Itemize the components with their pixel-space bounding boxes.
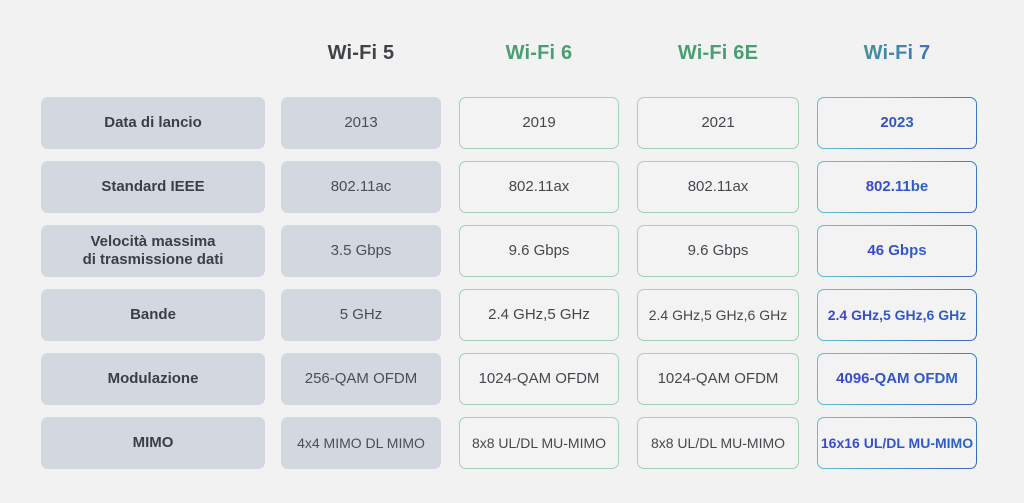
grid-gap — [265, 161, 281, 213]
cell-wifi7-text: 2.4 GHz,5 GHz,6 GHz — [828, 307, 966, 324]
cell-wifi7: 2023 — [817, 97, 977, 149]
cell-wifi5: 5 GHz — [281, 289, 441, 341]
column-header-wifi5: Wi-Fi 5 — [281, 33, 441, 73]
comparison-grid: Wi-Fi 5 Wi-Fi 6 Wi-Fi 6E Wi-Fi 7 Data di… — [41, 33, 977, 469]
grid-gap — [441, 417, 459, 469]
grid-gap — [441, 353, 459, 405]
cell-wifi7: 2.4 GHz,5 GHz,6 GHz — [817, 289, 977, 341]
row-label-text: Standard IEEE — [101, 178, 204, 196]
grid-gap — [799, 225, 817, 277]
grid-gap — [265, 33, 281, 85]
row-label: MIMO — [41, 417, 265, 469]
wifi-comparison-table: Wi-Fi 5 Wi-Fi 6 Wi-Fi 6E Wi-Fi 7 Data di… — [0, 0, 1024, 503]
column-header-wifi6e: Wi-Fi 6E — [637, 33, 799, 73]
row-label: Bande — [41, 289, 265, 341]
grid-gap — [265, 225, 281, 277]
grid-gap — [265, 353, 281, 405]
grid-gap — [619, 97, 637, 149]
grid-gap — [441, 289, 459, 341]
cell-wifi7: 46 Gbps — [817, 225, 977, 277]
grid-gap — [619, 353, 637, 405]
grid-gap — [799, 97, 817, 149]
cell-wifi7-text: 4096-QAM OFDM — [836, 370, 958, 388]
cell-wifi6e: 2.4 GHz,5 GHz,6 GHz — [637, 289, 799, 341]
grid-gap — [441, 225, 459, 277]
cell-wifi7-text: 46 Gbps — [867, 242, 926, 260]
cell-wifi6e: 9.6 Gbps — [637, 225, 799, 277]
cell-wifi6e: 2021 — [637, 97, 799, 149]
row-label: Modulazione — [41, 353, 265, 405]
grid-gap — [441, 97, 459, 149]
cell-wifi5: 3.5 Gbps — [281, 225, 441, 277]
cell-wifi7-text: 802.11be — [866, 178, 929, 196]
cell-wifi6: 8x8 UL/DL MU-MIMO — [459, 417, 619, 469]
cell-wifi5: 4x4 MIMO DL MIMO — [281, 417, 441, 469]
cell-wifi6: 802.11ax — [459, 161, 619, 213]
grid-gap — [619, 161, 637, 213]
grid-gap — [799, 33, 817, 85]
row-label-text: MIMO — [133, 434, 174, 452]
grid-gap — [265, 289, 281, 341]
row-label-text: Bande — [130, 306, 176, 324]
grid-gap — [799, 289, 817, 341]
grid-gap — [441, 33, 459, 85]
cell-wifi5: 256-QAM OFDM — [281, 353, 441, 405]
grid-gap — [799, 353, 817, 405]
cell-wifi6: 9.6 Gbps — [459, 225, 619, 277]
cell-wifi6: 2.4 GHz,5 GHz — [459, 289, 619, 341]
cell-wifi6e: 1024-QAM OFDM — [637, 353, 799, 405]
grid-gap — [799, 417, 817, 469]
column-header-feature — [41, 33, 265, 73]
grid-gap — [619, 417, 637, 469]
cell-wifi6: 2019 — [459, 97, 619, 149]
row-label-text: Velocità massima di trasmissione dati — [83, 233, 224, 268]
row-label: Standard IEEE — [41, 161, 265, 213]
cell-wifi7: 16x16 UL/DL MU-MIMO — [817, 417, 977, 469]
cell-wifi6e: 802.11ax — [637, 161, 799, 213]
column-header-wifi6: Wi-Fi 6 — [459, 33, 619, 73]
cell-wifi5: 802.11ac — [281, 161, 441, 213]
row-label-text: Modulazione — [108, 370, 199, 388]
grid-gap — [619, 33, 637, 85]
cell-wifi5: 2013 — [281, 97, 441, 149]
row-label: Velocità massima di trasmissione dati — [41, 225, 265, 277]
row-label-text: Data di lancio — [104, 114, 202, 132]
column-header-wifi7: Wi-Fi 7 — [817, 33, 977, 73]
grid-gap — [619, 225, 637, 277]
grid-gap — [799, 161, 817, 213]
cell-wifi6e: 8x8 UL/DL MU-MIMO — [637, 417, 799, 469]
grid-gap — [265, 417, 281, 469]
cell-wifi7-text: 16x16 UL/DL MU-MIMO — [821, 435, 973, 452]
cell-wifi6: 1024-QAM OFDM — [459, 353, 619, 405]
grid-gap — [265, 97, 281, 149]
grid-gap — [619, 289, 637, 341]
cell-wifi7: 4096-QAM OFDM — [817, 353, 977, 405]
cell-wifi7: 802.11be — [817, 161, 977, 213]
cell-wifi7-text: 2023 — [880, 114, 913, 132]
row-label: Data di lancio — [41, 97, 265, 149]
grid-gap — [441, 161, 459, 213]
